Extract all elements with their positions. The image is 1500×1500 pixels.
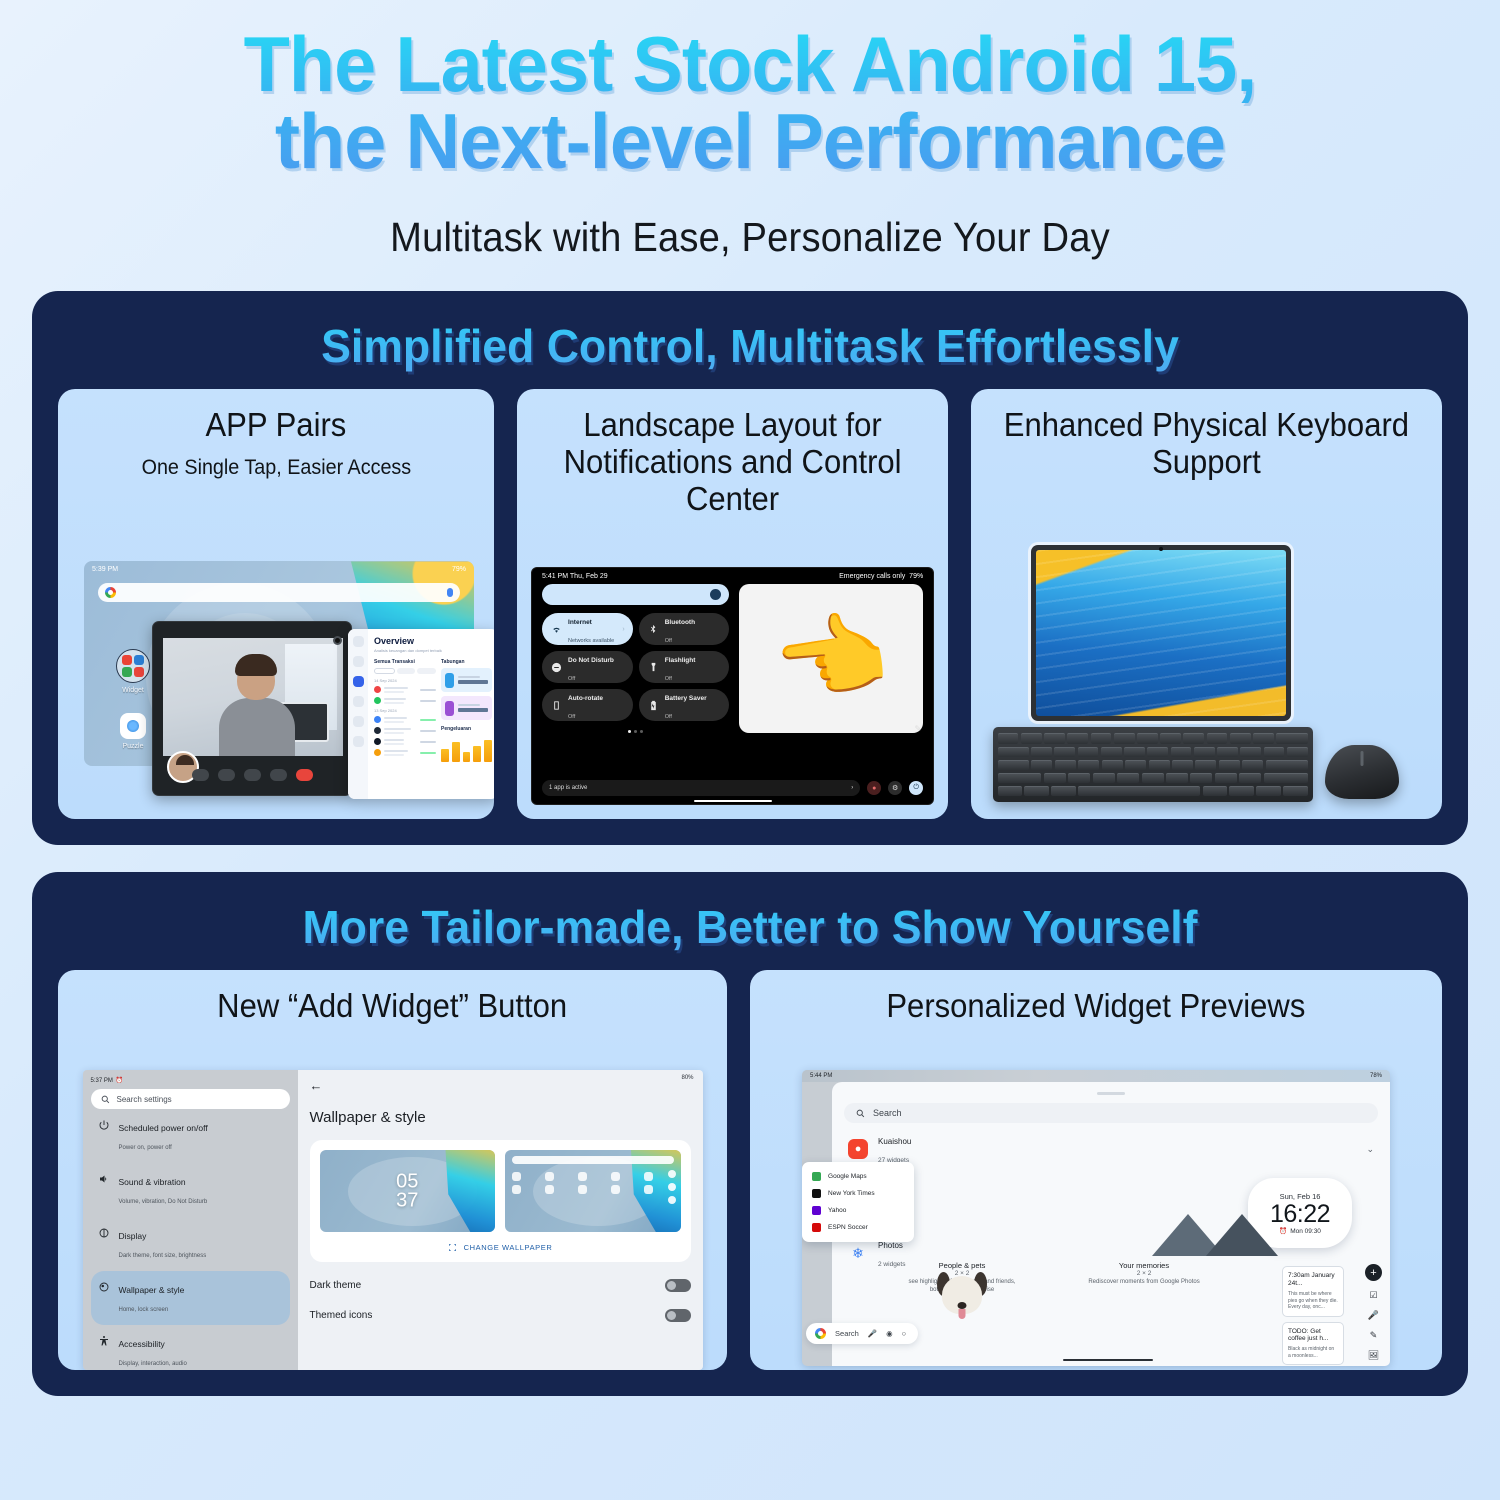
dashboard-nav-chart[interactable] <box>353 716 364 727</box>
control-center-footer: 1 app is active › ● ⚙ ⏻ <box>542 780 923 796</box>
google-search-label: Search <box>835 1329 859 1338</box>
tile-subtitle: Off <box>665 714 672 720</box>
themed-icons-row[interactable]: Themed icons <box>310 1309 691 1322</box>
float-item-label: Google Maps <box>828 1173 867 1180</box>
note-card[interactable]: 7:30am January 24t... This must be where… <box>1282 1266 1344 1316</box>
tile-subtitle: Networks available <box>568 638 614 644</box>
app-pair-folder-icon[interactable] <box>116 649 150 683</box>
float-item-new-york-times[interactable]: New York Times <box>805 1185 911 1202</box>
section-simplified-control: Simplified Control, Multitask Effortless… <box>32 291 1468 845</box>
section-two-heading: More Tailor-made, Better to Show Yoursel… <box>79 888 1421 970</box>
settings-status-bar: 5:37 PM ⏰ <box>91 1077 290 1084</box>
themed-icons-label: Themed icons <box>310 1310 373 1321</box>
lens-icon[interactable]: ◉ <box>886 1329 893 1338</box>
settings-item-title: Display <box>119 1231 147 1241</box>
search-settings-input[interactable]: Search settings <box>91 1089 290 1109</box>
dashboard-nav-active[interactable] <box>353 676 364 687</box>
transaction-tabs[interactable] <box>374 668 436 674</box>
tap-hand-icon: 👈 <box>768 605 894 712</box>
bluetooth-icon <box>648 624 659 635</box>
dashboard-nav-wallet[interactable] <box>353 696 364 707</box>
home-screen-preview[interactable] <box>505 1150 681 1232</box>
settings-item-title: Wallpaper & style <box>119 1285 185 1295</box>
transactions-column: Semua Transaksi 14 Sep 2024 <box>374 659 436 762</box>
tab-pembayaran[interactable] <box>417 668 436 674</box>
detail-title: Wallpaper & style <box>310 1109 691 1126</box>
lock-clock-minute: 37 <box>396 1189 418 1211</box>
widget-app-kuaishou[interactable]: ● Kuaishou27 widgets ⌄ <box>844 1123 1378 1175</box>
tile-subtitle: Off <box>568 714 575 720</box>
mic-icon[interactable]: 🎤 <box>868 1329 877 1338</box>
card-widget-previews-art: 5:44 PM 78% Search ● Kuaishou27 wid <box>764 1070 1428 1370</box>
notes-action-rail[interactable]: + ☑ 🎤 ✎ 🖼 <box>1365 1264 1382 1361</box>
card-app-pairs-subheading: One Single Tap, Easier Access <box>141 456 411 480</box>
card-landscape-heading: Landscape Layout for Notifications and C… <box>543 407 922 518</box>
transaction-row[interactable] <box>374 686 436 693</box>
card-app-pairs-heading: APP Pairs <box>206 407 347 444</box>
video-feed <box>163 638 343 756</box>
status-battery: 79% <box>909 573 923 580</box>
google-icon <box>815 1328 826 1339</box>
checklist-icon[interactable]: ☑ <box>1369 1290 1377 1301</box>
flashlight-icon <box>648 662 659 673</box>
video-call-window[interactable] <box>152 621 352 796</box>
person-hair <box>235 654 277 676</box>
widget-status-bar: 5:44 PM 78% <box>802 1070 1390 1082</box>
clock-widget-alarm-text: Mon 09:30 <box>1290 1228 1321 1235</box>
active-apps-chip[interactable]: 1 app is active › <box>542 780 860 796</box>
quick-tile-auto-rotate[interactable]: Auto-rotateOff <box>542 689 633 721</box>
rotate-icon <box>551 700 562 711</box>
settings-item-title: Scheduled power on/off <box>119 1123 208 1133</box>
float-item-label: New York Times <box>828 1190 875 1197</box>
tablet-device <box>1031 545 1291 721</box>
home-status-bar: 5:39 PM 79% <box>92 564 466 574</box>
alarm-icon: ⏰ <box>1279 1227 1287 1235</box>
preview-app-icons <box>512 1172 674 1194</box>
dashboard-title: Overview <box>374 636 492 646</box>
search-icon <box>101 1095 110 1104</box>
dashboard-body: Overview Analisis keuangan dan dompet te… <box>368 629 494 799</box>
mic-icon[interactable] <box>447 588 453 597</box>
settings-item-accessibility[interactable]: AccessibilityDisplay, interaction, audio <box>91 1325 290 1370</box>
end-call-button[interactable] <box>296 769 313 781</box>
tile-title: Flashlight <box>665 657 696 664</box>
widget-picker-screenshot: 5:44 PM 78% Search ● Kuaishou27 wid <box>802 1070 1390 1366</box>
solo-app-glyph <box>127 720 139 732</box>
pair-app-3-icon <box>122 667 132 677</box>
google-icon <box>105 587 116 598</box>
quick-tile-internet[interactable]: InternetNetworks available › <box>542 613 633 645</box>
clock-widget-time: 16:22 <box>1270 1201 1330 1227</box>
screen-share-button[interactable] <box>244 769 261 781</box>
card-keyboard-heading: Enhanced Physical Keyboard Support <box>998 407 1414 481</box>
clock-widget-alarm: ⏰ Mon 09:30 <box>1279 1227 1321 1235</box>
card-add-widget-button[interactable]: New “Add Widget” Button 5:37 PM ⏰ Search… <box>58 970 727 1370</box>
hero-section: The Latest Stock Android 15, the Next-le… <box>0 0 1500 261</box>
widget-search-placeholder: Search <box>873 1108 902 1118</box>
chevron-down-icon[interactable]: ⌄ <box>1366 1144 1374 1155</box>
preview-description: Rediscover moments from Google Photos <box>1064 1279 1224 1287</box>
front-camera-icon <box>1159 547 1163 551</box>
tile-title: Bluetooth <box>665 619 695 626</box>
settings-item-sound-vibration[interactable]: Sound & vibrationVolume, vibration, Do N… <box>91 1163 290 1217</box>
card-widget-previews-heading: Personalized Widget Previews <box>887 988 1306 1025</box>
title-line-1: The Latest Stock Android 15, <box>244 20 1257 108</box>
transaction-group-one: 14 Sep 2024 <box>374 678 436 683</box>
section-one-heading: Simplified Control, Multitask Effortless… <box>79 307 1421 389</box>
microphone-icon[interactable]: 🎤 <box>1368 1310 1379 1321</box>
back-arrow-icon[interactable]: ← <box>310 1078 691 1093</box>
card-app-pairs[interactable]: APP Pairs One Single Tap, Easier Access … <box>58 389 494 819</box>
preview-dock-icons <box>668 1170 676 1204</box>
home-status-time: 5:39 PM <box>92 566 118 573</box>
more-button[interactable] <box>270 769 287 781</box>
photos-icon: ❄ <box>848 1243 868 1263</box>
settings-sidebar: 5:37 PM ⏰ Search settings Scheduled powe… <box>83 1070 298 1370</box>
camera-icon[interactable]: ○ <box>902 1329 907 1338</box>
power-button[interactable]: ⏻ <box>909 781 923 795</box>
quick-tile-flashlight[interactable]: FlashlightOff <box>639 651 730 683</box>
drag-handle[interactable] <box>1097 1092 1125 1095</box>
google-search-widget[interactable] <box>98 583 460 602</box>
kuaishou-icon: ● <box>848 1139 868 1159</box>
pen-icon[interactable]: ✎ <box>1370 1330 1378 1341</box>
image-icon[interactable]: 🖼 <box>1368 1350 1379 1361</box>
finance-dashboard-window[interactable]: Overview Analisis keuangan dan dompet te… <box>348 629 494 799</box>
tile-subtitle: Off <box>665 638 672 644</box>
dnd-icon <box>551 662 562 673</box>
dashboard-sidebar[interactable] <box>348 629 368 799</box>
tile-title: Battery Saver <box>665 695 707 702</box>
title-line-2: the Next-level Performance <box>61 103 1438 180</box>
home-indicator[interactable] <box>1063 1359 1153 1361</box>
change-wallpaper-button[interactable]: CHANGE WALLPAPER <box>320 1243 681 1252</box>
tab-rincian[interactable] <box>374 668 395 674</box>
dashboard-nav-logo[interactable] <box>353 636 364 647</box>
search-settings-placeholder: Search settings <box>117 1095 172 1104</box>
transaction-row[interactable] <box>374 749 436 756</box>
dashboard-nav-settings[interactable] <box>353 736 364 747</box>
settings-item-display[interactable]: DisplayDark theme, font size, brightness <box>91 1217 290 1271</box>
wallpaper-preview-panel: 05 37 <box>310 1140 691 1262</box>
float-item-yahoo[interactable]: Yahoo <box>805 1202 911 1219</box>
lock-screen-clock: 05 37 <box>396 1173 418 1210</box>
card-keyboard-art <box>985 545 1428 805</box>
wallpaper-icon <box>98 1281 110 1293</box>
dark-theme-row[interactable]: Dark theme <box>310 1279 691 1292</box>
widget-app-count: 2 widgets <box>878 1261 905 1268</box>
tile-title: Auto-rotate <box>568 695 603 702</box>
transaction-group-two: 13 Sep 2024 <box>374 708 436 713</box>
pair-app-4-icon <box>134 667 144 677</box>
transactions-heading: Semua Transaksi <box>374 659 436 665</box>
settings-item-subtitle: Display, interaction, audio <box>119 1361 187 1367</box>
card-landscape-art: 5:41 PM Thu, Feb 29 Emergency calls only… <box>531 567 934 805</box>
transaction-row[interactable] <box>374 738 436 745</box>
power-icon <box>98 1119 110 1131</box>
float-item-espn-soccer[interactable]: ESPN Soccer <box>805 1219 911 1236</box>
pair-app-2-icon <box>134 655 144 665</box>
transaction-row[interactable] <box>374 727 436 734</box>
section-two-cards: New “Add Widget” Button 5:37 PM ⏰ Search… <box>58 970 1442 1370</box>
widget-app-name: Photos <box>878 1241 903 1250</box>
notes-widget-preview[interactable]: 7:30am January 24t... This must be where… <box>1282 1266 1344 1366</box>
tile-subtitle: Off <box>665 676 672 682</box>
alarm-icon: ⏰ <box>116 1077 123 1084</box>
widget-status-battery: 78% <box>1370 1073 1382 1079</box>
card-app-pairs-art: 5:39 PM 79% Thursday, Feb 29 <box>72 555 480 805</box>
quick-tile-battery-saver[interactable]: Battery SaverOff <box>639 689 730 721</box>
app-shortcut-popup[interactable]: Google Maps New York Times Yahoo ESPN So… <box>802 1162 914 1242</box>
search-icon <box>856 1109 865 1118</box>
settings-item-wallpaper-style[interactable]: Wallpaper & styleHome, lock screen <box>91 1271 290 1325</box>
wifi-icon <box>551 624 562 635</box>
preview-name: Your memories <box>1064 1261 1224 1270</box>
status-right-text: Emergency calls only <box>839 573 905 580</box>
call-controls[interactable] <box>153 769 351 781</box>
savings-card[interactable] <box>441 696 492 720</box>
settings-item-subtitle: Dark theme, font size, brightness <box>119 1253 207 1259</box>
spending-bar-chart <box>441 736 492 762</box>
add-note-icon[interactable]: + <box>1365 1264 1382 1281</box>
savings-column: Tabungan Pengeluaran <box>441 659 492 762</box>
themed-icons-toggle[interactable] <box>665 1309 691 1322</box>
accessibility-icon <box>98 1335 110 1347</box>
solo-app-icon[interactable] <box>120 713 146 739</box>
person-body <box>219 698 295 756</box>
active-apps-text: 1 app is active <box>549 785 587 791</box>
float-item-label: Yahoo <box>828 1207 846 1214</box>
transaction-row[interactable] <box>374 716 436 723</box>
tablet-wallpaper <box>1036 550 1286 716</box>
section-tailor-made: More Tailor-made, Better to Show Yoursel… <box>32 872 1468 1396</box>
card-add-widget-art: 5:37 PM ⏰ Search settings Scheduled powe… <box>72 1070 713 1370</box>
people-pets-widget-preview[interactable]: People & pets 2 × 2 see highlights of yo… <box>908 1256 1016 1294</box>
tab-mendatang[interactable] <box>397 668 416 674</box>
savings-card-icon <box>445 673 454 688</box>
preview-search-bar <box>512 1156 674 1164</box>
note-card[interactable]: TODO: Get coffee just h... Black as midn… <box>1282 1322 1344 1366</box>
user-switch-button[interactable]: ● <box>867 781 881 795</box>
note-body: This must be where pies go when they die… <box>1288 1291 1338 1311</box>
change-wallpaper-label: CHANGE WALLPAPER <box>464 1243 553 1252</box>
google-search-bar[interactable]: Search 🎤 ◉ ○ <box>806 1323 918 1344</box>
sound-icon <box>98 1173 110 1185</box>
page-indicator-dots[interactable] <box>542 730 729 733</box>
spending-heading: Pengeluaran <box>441 726 492 732</box>
chevron-right-icon[interactable]: › <box>851 785 853 791</box>
card-keyboard-support[interactable]: Enhanced Physical Keyboard Support <box>971 389 1442 819</box>
avatar[interactable] <box>710 589 721 600</box>
external-keyboard[interactable] <box>993 727 1313 802</box>
settings-item-title: Sound & vibration <box>119 1177 186 1187</box>
quick-tile-bluetooth[interactable]: BluetoothOff <box>639 613 730 645</box>
control-center-status-bar: 5:41 PM Thu, Feb 29 Emergency calls only… <box>532 568 933 580</box>
notification-search-bar[interactable] <box>542 584 729 605</box>
wallpaper-style-detail: 80% ← Wallpaper & style 05 37 <box>298 1070 703 1370</box>
settings-item-subtitle: Home, lock screen <box>119 1307 169 1313</box>
dark-theme-toggle[interactable] <box>665 1279 691 1292</box>
home-indicator[interactable] <box>694 800 772 802</box>
crop-icon <box>448 1243 457 1252</box>
display-icon <box>98 1227 110 1239</box>
status-left-text: 5:41 PM Thu, Feb 29 <box>542 573 608 580</box>
savings-card[interactable] <box>441 668 492 692</box>
tile-subtitle: Off <box>568 676 575 682</box>
gear-icon[interactable]: ⚙ <box>888 781 902 795</box>
wireless-mouse[interactable] <box>1325 745 1399 799</box>
card-landscape-layout[interactable]: Landscape Layout for Notifications and C… <box>517 389 948 819</box>
float-item-label: ESPN Soccer <box>828 1224 868 1231</box>
dashboard-caption: Analisis keuangan dan dompet terbaik <box>374 648 492 653</box>
card-add-widget-heading: New “Add Widget” Button <box>218 988 568 1025</box>
settings-status-time: 5:37 PM <box>91 1078 113 1084</box>
note-title: 7:30am January 24t... <box>1288 1272 1338 1288</box>
savings-heading: Tabungan <box>441 659 492 665</box>
edit-tiles-icon[interactable]: ✎ <box>914 724 921 733</box>
chevron-right-icon[interactable]: › <box>622 626 624 633</box>
memories-widget-preview[interactable]: Your memories 2 × 2 Rediscover moments f… <box>1064 1256 1224 1287</box>
settings-item-title: Accessibility <box>119 1339 165 1349</box>
transaction-row[interactable] <box>374 697 436 704</box>
widget-app-name: Kuaishou <box>878 1137 911 1146</box>
detail-battery: 80% <box>682 1075 694 1081</box>
settings-item-subtitle: Power on, power off <box>119 1145 172 1151</box>
page-title: The Latest Stock Android 15, the Next-le… <box>61 26 1438 180</box>
preview-size: 2 × 2 <box>1064 1270 1224 1277</box>
settings-item-subtitle: Volume, vibration, Do Not Disturb <box>119 1199 208 1205</box>
dashboard-nav-home[interactable] <box>353 656 364 667</box>
quick-tile-do-not-disturb[interactable]: Do Not DisturbOff <box>542 651 633 683</box>
quick-settings-grid: InternetNetworks available › BluetoothOf… <box>542 613 729 721</box>
widget-search-input[interactable]: Search <box>844 1103 1378 1123</box>
home-status-battery: 79% <box>452 566 466 573</box>
note-body: Black as midnight on a moonless... <box>1288 1346 1338 1359</box>
float-item-google-maps[interactable]: Google Maps <box>805 1168 911 1185</box>
pair-app-1-icon <box>122 655 132 665</box>
preview-name: People & pets <box>908 1261 1016 1270</box>
note-title: TODO: Get coffee just h... <box>1288 1328 1338 1344</box>
settings-item-scheduled-power[interactable]: Scheduled power on/offPower on, power of… <box>91 1109 290 1163</box>
mute-button[interactable] <box>192 769 209 781</box>
section-one-cards: APP Pairs One Single Tap, Easier Access … <box>58 389 1442 819</box>
widget-status-time: 5:44 PM <box>810 1073 832 1079</box>
savings-card-icon <box>445 701 454 716</box>
tile-title: Do Not Disturb <box>568 657 614 664</box>
dark-theme-label: Dark theme <box>310 1280 362 1291</box>
lock-screen-preview[interactable]: 05 37 <box>320 1150 496 1232</box>
tap-illustration-panel: 👈 <box>739 584 923 733</box>
tile-title: Internet <box>568 619 592 626</box>
battery-icon <box>648 700 659 711</box>
page-subtitle: Multitask with Ease, Personalize Your Da… <box>90 214 1411 261</box>
card-widget-previews[interactable]: Personalized Widget Previews 5:44 PM 78%… <box>750 970 1442 1370</box>
control-center-screenshot: 5:41 PM Thu, Feb 29 Emergency calls only… <box>531 567 934 805</box>
video-button[interactable] <box>218 769 235 781</box>
